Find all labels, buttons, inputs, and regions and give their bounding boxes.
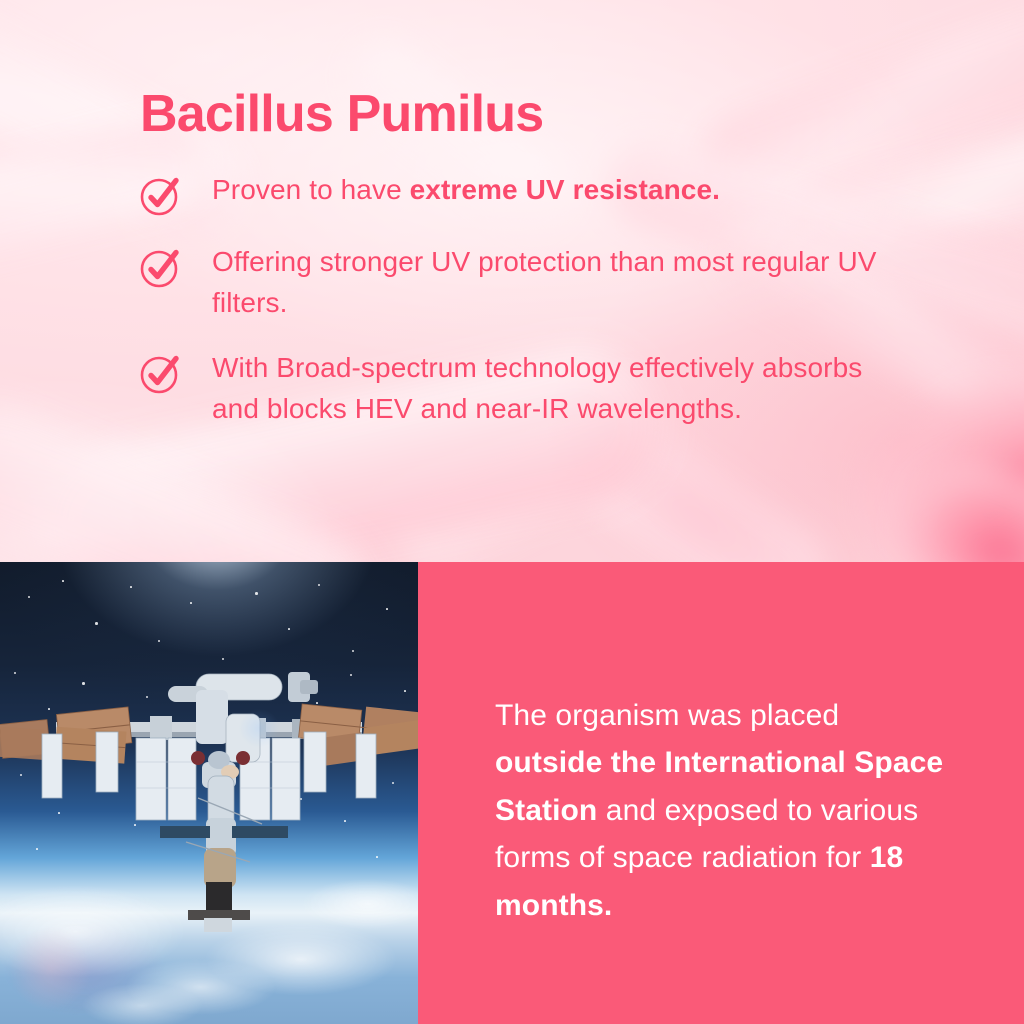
list-item: With Broad-spectrum technology effective… [140,348,900,430]
bottom-section: The organism was placed outside the Inte… [0,562,1024,1024]
page-title: Bacillus Pumilus [140,85,543,145]
list-item-text: Offering stronger UV protection than mos… [212,242,900,324]
check-circle-icon [140,246,186,290]
list-item-text: Proven to have extreme UV resistance. [212,170,720,211]
top-content: Bacillus Pumilus Proven to have extreme … [0,0,1024,562]
list-item: Proven to have extreme UV resistance. [140,170,900,218]
check-circle-icon [140,174,186,218]
top-section: Bacillus Pumilus Proven to have extreme … [0,0,1024,562]
infographic-page: Bacillus Pumilus Proven to have extreme … [0,0,1024,1024]
list-item-text: With Broad-spectrum technology effective… [212,348,900,430]
list-item: Offering stronger UV protection than mos… [140,242,900,324]
iss-space-photo [0,562,418,1024]
lens-flare [0,562,418,1024]
check-circle-icon [140,352,186,396]
benefit-list: Proven to have extreme UV resistance. Of… [140,170,900,454]
highlight-panel-text: The organism was placed outside the Inte… [495,692,947,929]
highlight-panel: The organism was placed outside the Inte… [418,562,1024,1024]
